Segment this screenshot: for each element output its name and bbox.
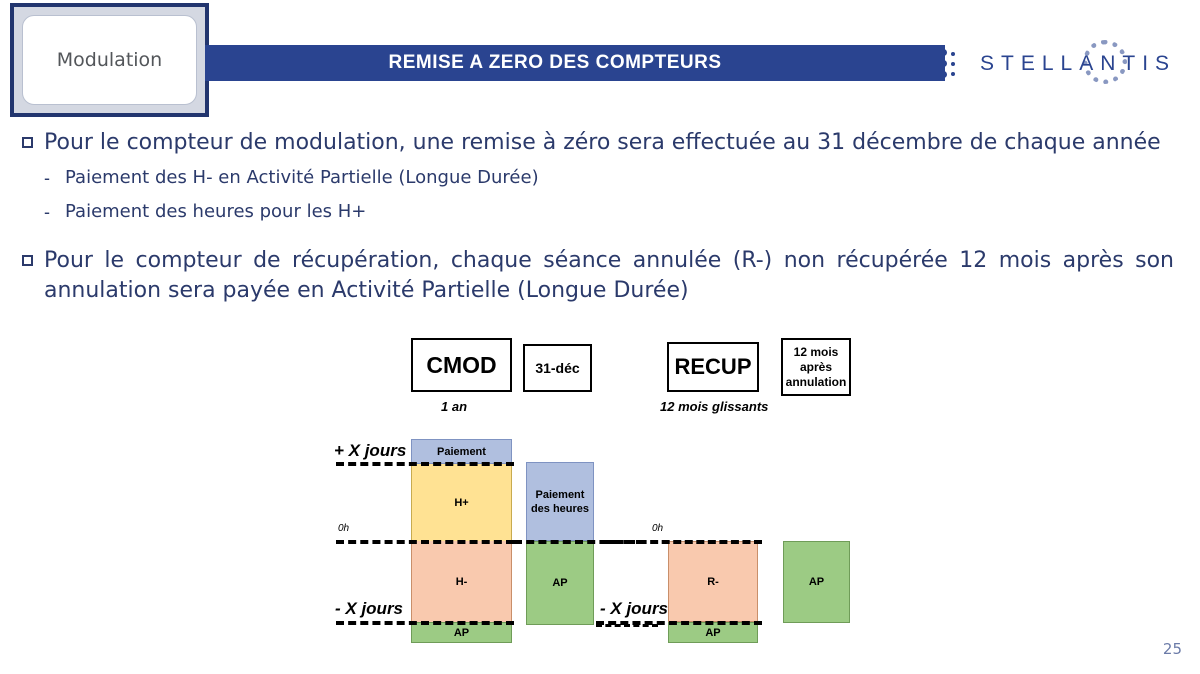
modulation-tab-inner: Modulation (22, 15, 197, 105)
page-title: REMISE A ZERO DES COMPTEURS (205, 45, 905, 81)
axis-label-0h-right: 0h (652, 523, 663, 534)
diagram-box-cmod: CMOD (411, 338, 512, 392)
dot-icon (951, 52, 955, 56)
diagram-box-recup: RECUP (667, 342, 759, 392)
bar-segment-31dec-paiement-des-heures: Paiement des heures (526, 462, 594, 541)
dot-icon (951, 62, 955, 66)
stellantis-halo-icon (1083, 40, 1127, 84)
sub-bullet-text: Paiement des H- en Activité Partielle (L… (65, 165, 539, 191)
dot-icon (940, 60, 947, 67)
bar-segment-recup-ap: AP (668, 622, 758, 643)
page-number: 25 (1163, 640, 1182, 658)
bar-segment-12mois-ap: AP (783, 541, 850, 623)
axis-label-plus-x-jours: + X jours (334, 441, 406, 461)
axis-label-minus-x-jours-right: - X jours (600, 599, 668, 619)
sub-bullet-item: - Paiement des H- en Activité Partielle … (44, 165, 539, 191)
reference-line-0h-left (336, 540, 514, 544)
reference-line-minus-x-jours (336, 621, 514, 625)
reference-line-plus-x-jours (336, 462, 514, 466)
dot-icon (940, 49, 947, 56)
bullet-item: Pour le compteur de modulation, une remi… (22, 128, 1182, 158)
bar-segment-cmod-h-minus: H- (411, 541, 512, 622)
bullet-item: Pour le compteur de récupération, chaque… (22, 246, 1182, 306)
square-bullet-icon (22, 255, 33, 266)
bar-segment-recup-r-minus: R- (668, 541, 758, 622)
diagram-box-12-mois-apres-annulation: 12 mois après annulation (781, 338, 851, 396)
dot-icon (940, 71, 947, 78)
axis-label-0h-left: 0h (338, 523, 349, 534)
square-bullet-icon (22, 137, 33, 148)
dot-icon (951, 72, 955, 76)
diagram-caption-12-mois-glissants: 12 mois glissants (660, 399, 768, 414)
bar-segment-cmod-ap: AP (411, 622, 512, 643)
sub-bullet-item: - Paiement des heures pour les H+ (44, 199, 366, 225)
sub-bullet-text: Paiement des heures pour les H+ (65, 199, 366, 225)
dash-bullet-icon: - (44, 165, 53, 191)
bar-segment-31dec-ap: AP (526, 541, 594, 625)
reference-line-minus-x-jours-right (596, 621, 762, 625)
banner-dots-decoration (938, 45, 968, 81)
diagram-caption-1-an: 1 an (441, 399, 467, 414)
reference-line-0h-right (604, 540, 762, 544)
bullet-text: Pour le compteur de modulation, une remi… (44, 128, 1161, 158)
bar-segment-cmod-paiement: Paiement (411, 439, 512, 464)
dash-bullet-icon: - (44, 199, 53, 225)
bullet-text: Pour le compteur de récupération, chaque… (44, 246, 1174, 306)
modulation-tab-label: Modulation (57, 49, 162, 71)
diagram-box-31dec: 31-déc (523, 344, 592, 392)
bar-segment-cmod-h-plus: H+ (411, 464, 512, 541)
axis-label-minus-x-jours: - X jours (335, 599, 403, 619)
modulation-tab[interactable]: Modulation (10, 3, 209, 117)
header-banner: REMISE A ZERO DES COMPTEURS (205, 45, 945, 81)
stellantis-logo: STELLANTIS (980, 48, 1180, 80)
